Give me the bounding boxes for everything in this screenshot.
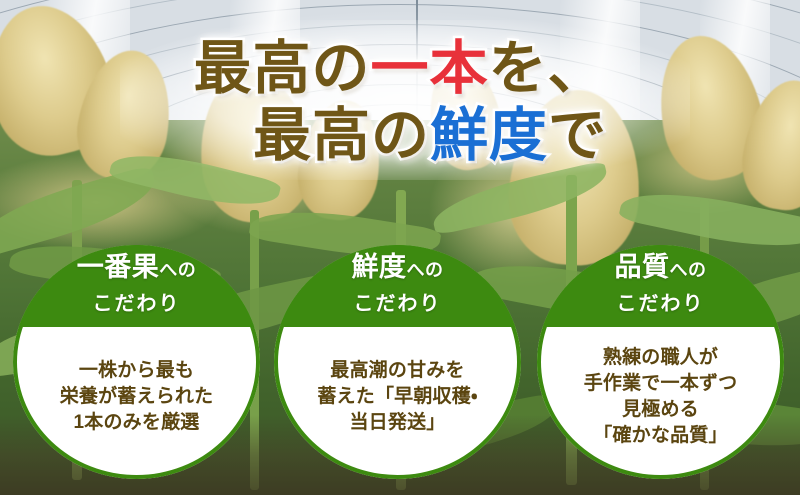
badge-body-text: 熟練の職人が 手作業で一本ずつ 見極める 「確かな品質」 bbox=[584, 345, 738, 450]
feature-badge-ichibanka: 一番果への こだわり 一株から最も 栄養が蓄えられた 1本のみを厳選 bbox=[13, 245, 260, 479]
badge-body: 一株から最も 栄養が蓄えられた 1本のみを厳選 bbox=[13, 327, 260, 479]
badge-title-suffix: への bbox=[670, 260, 707, 280]
badge-subtitle: こだわり bbox=[13, 287, 260, 316]
badge-title-suffix: への bbox=[407, 260, 444, 280]
badge-title: 一番果への bbox=[13, 253, 260, 283]
badge-title-main: 一番果 bbox=[77, 252, 160, 282]
badge-body: 熟練の職人が 手作業で一本ずつ 見極める 「確かな品質」 bbox=[537, 327, 784, 479]
headline-text-ippon: 一本 bbox=[370, 36, 488, 101]
badge-body: 最高潮の甘みを 蓄えた「早朝収穫・ 当日発送」 bbox=[274, 327, 521, 479]
badge-title-main: 品質 bbox=[615, 252, 670, 282]
promo-banner: 最高の一本を、 最高の鮮度で 一番果への こだわり 一株から最も 栄養が蓄えられ… bbox=[0, 0, 800, 495]
badge-title-suffix: への bbox=[159, 260, 196, 280]
feature-badge-sendo: 鮮度への こだわり 最高潮の甘みを 蓄えた「早朝収穫・ 当日発送」 bbox=[274, 245, 521, 479]
badge-title: 品質への bbox=[537, 253, 784, 283]
headline-text-sendo: 鮮度 bbox=[430, 103, 548, 168]
badge-body-text: 最高潮の甘みを 蓄えた「早朝収穫・ 当日発送」 bbox=[317, 358, 477, 437]
badge-header: 品質への こだわり bbox=[537, 245, 784, 327]
headline-text-saikou-1: 最高の bbox=[193, 36, 370, 101]
headline-line-2: 最高の鮮度で bbox=[0, 105, 800, 166]
badge-title: 鮮度への bbox=[274, 253, 521, 283]
feature-badge-hinshitsu: 品質への こだわり 熟練の職人が 手作業で一本ずつ 見極める 「確かな品質」 bbox=[537, 245, 784, 479]
badge-header: 鮮度への こだわり bbox=[274, 245, 521, 327]
headline-text-de: で bbox=[548, 103, 607, 168]
headline-text-saikou-2: 最高の bbox=[253, 103, 430, 168]
badge-subtitle: こだわり bbox=[274, 287, 521, 316]
badge-header: 一番果への こだわり bbox=[13, 245, 260, 327]
badge-body-text: 一株から最も 栄養が蓄えられた 1本のみを厳選 bbox=[60, 358, 214, 437]
headline-text-wo: を、 bbox=[489, 36, 607, 101]
badge-title-main: 鮮度 bbox=[352, 252, 407, 282]
headline: 最高の一本を、 最高の鮮度で bbox=[0, 38, 800, 167]
badge-subtitle: こだわり bbox=[537, 287, 784, 316]
headline-line-1: 最高の一本を、 bbox=[0, 38, 800, 99]
